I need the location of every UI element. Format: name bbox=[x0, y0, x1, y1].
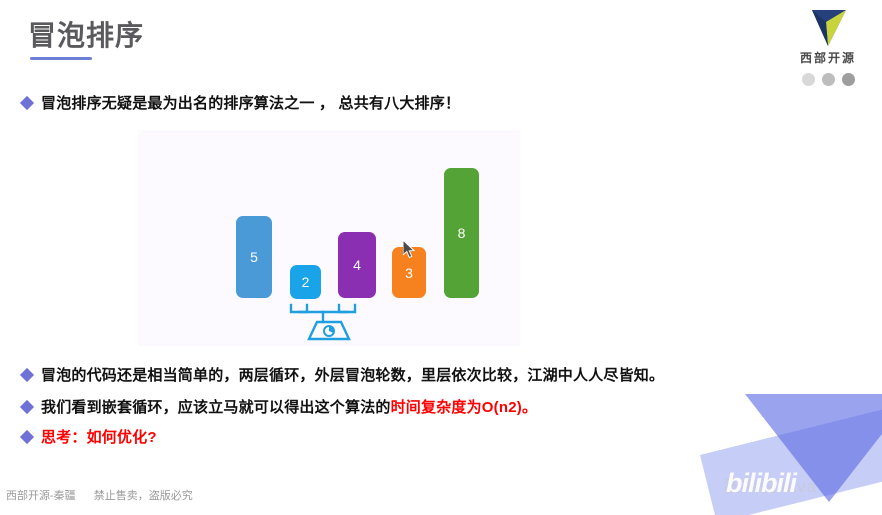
bullet-line-3: 我们看到嵌套循环，应该立马就可以得出这个算法的时间复杂度为O(n2)。 bbox=[22, 396, 537, 417]
bullet-text-3-plain: 我们看到嵌套循环，应该立马就可以得出这个算法的 bbox=[41, 399, 391, 416]
chart-bar-5: 5 bbox=[236, 216, 272, 298]
bullet-text-3-highlight: 时间复杂度为O(n2)。 bbox=[391, 399, 538, 416]
footer-copyright: 禁止售卖，盗版必究 bbox=[94, 490, 193, 502]
balance-scale-icon bbox=[287, 303, 373, 343]
chart-bar-label: 5 bbox=[250, 249, 258, 265]
bullet-line-4: 思考：如何优化? bbox=[22, 426, 157, 447]
bullet-diamond-icon bbox=[20, 367, 34, 381]
bullet-diamond-icon bbox=[20, 399, 34, 413]
bullet-text-4: 思考：如何优化? bbox=[41, 426, 157, 447]
chart-bar-label: 2 bbox=[302, 274, 310, 290]
bullet-diamond-icon bbox=[20, 429, 34, 443]
chart-bar-8: 8 bbox=[444, 168, 479, 298]
chart-bar-label: 8 bbox=[458, 225, 466, 241]
mouse-pointer-icon bbox=[403, 240, 417, 259]
footer-notice: 西部开源-秦疆 禁止售卖，盗版必究 bbox=[6, 487, 193, 503]
bullet-text-3: 我们看到嵌套循环，应该立马就可以得出这个算法的时间复杂度为O(n2)。 bbox=[41, 396, 537, 417]
chart-bar-label: 4 bbox=[353, 257, 361, 273]
chart-bar-label: 3 bbox=[405, 265, 413, 281]
bullet-line-2: 冒泡的代码还是相当简单的，两层循环，外层冒泡轮数，里层依次比较，江湖中人人尽皆知… bbox=[22, 364, 664, 385]
footer-author: 西部开源-秦疆 bbox=[6, 490, 76, 502]
watermark-bilibili: bilibili bbox=[726, 468, 796, 499]
slide-root: 冒泡排序 西部开源 冒泡排序无疑是最为出名的排序算法之一 ， 总共有八大排序！ … bbox=[0, 0, 882, 515]
chart-bar-4: 4 bbox=[338, 232, 376, 298]
bullet-text-2: 冒泡的代码还是相当简单的，两层循环，外层冒泡轮数，里层依次比较，江湖中人人尽皆知… bbox=[41, 364, 664, 385]
chart-bar-2: 2 bbox=[290, 265, 321, 299]
